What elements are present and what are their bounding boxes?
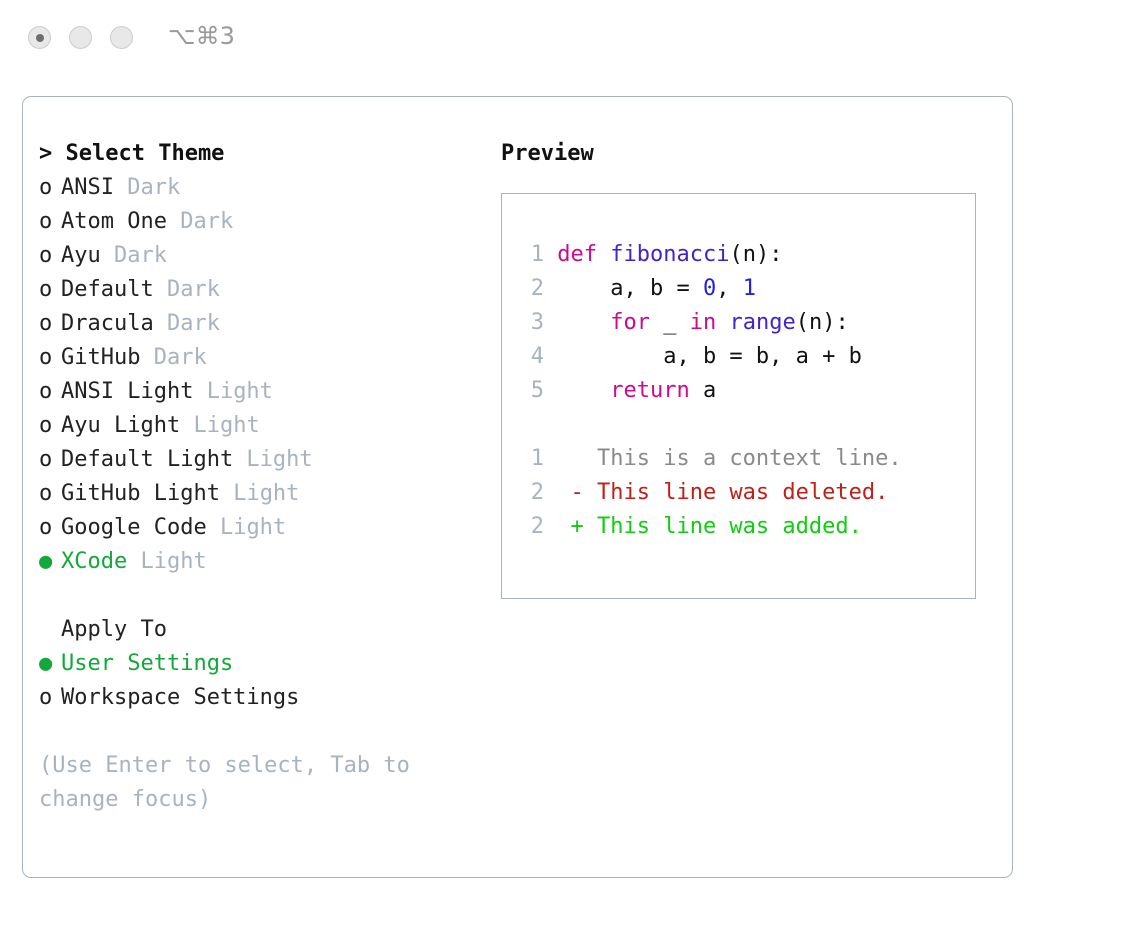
diff-line-text: This line was deleted. [597,480,888,505]
radio-selected-icon: ● [39,545,61,579]
code-token-plain [544,378,610,403]
diff-line-number: 2 [518,510,544,544]
code-token-plain [716,310,729,335]
theme-selector-column: > Select Theme oANSI DarkoAtom One Darko… [39,137,479,817]
theme-option-variant: Dark [167,209,233,234]
radio-unselected-icon: o [39,273,61,307]
window-maximize-button[interactable] [110,26,133,49]
theme-option-variant: Dark [140,345,206,370]
theme-option-label: GitHub [61,345,140,370]
theme-option-label: Google Code [61,515,207,540]
diff-line-body: - This line was deleted. [544,480,888,505]
radio-unselected-icon: o [39,307,61,341]
radio-unselected-icon: o [39,239,61,273]
diff-line-text: This is a context line. [597,446,902,471]
code-line-number: 2 [518,272,544,306]
radio-unselected-icon: o [39,511,61,545]
diff-line-number: 2 [518,476,544,510]
apply-to-option-workspace-settings[interactable]: oWorkspace Settings [39,681,479,715]
apply-to-option-user-settings[interactable]: ●User Settings [39,647,479,681]
list-spacer [39,579,479,613]
diff-line-add: 2 + This line was added. [502,510,975,544]
apply-to-option-label: User Settings [61,651,233,676]
theme-option-ansi[interactable]: oANSI Dark [39,171,479,205]
code-line: 1 def fibonacci(n): [502,238,975,272]
theme-option-label: Ayu Light [61,413,180,438]
code-token-plain: a [690,378,717,403]
theme-option-ansi-light[interactable]: oANSI Light Light [39,375,479,409]
traffic-light-group [28,26,133,49]
keyboard-shortcut-label: ⌥⌘3 [168,22,235,50]
apply-to-heading: Apply To [39,613,479,647]
code-token-fn: fibonacci [610,242,729,267]
main-panel: > Select Theme oANSI DarkoAtom One Darko… [22,96,1013,878]
diff-line-body: This is a context line. [544,446,902,471]
code-diff-separator [502,408,975,442]
theme-option-variant: Light [127,549,206,574]
radio-unselected-icon: o [39,409,61,443]
theme-option-label: Default [61,277,154,302]
code-token-num: 0 [703,276,716,301]
theme-option-list: oANSI DarkoAtom One DarkoAyu DarkoDefaul… [39,171,479,579]
theme-option-dracula[interactable]: oDracula Dark [39,307,479,341]
preview-box: 1 def fibonacci(n):2 a, b = 0, 13 for _ … [501,193,976,599]
apply-to-option-list: ●User SettingsoWorkspace Settings [39,647,479,715]
radio-unselected-icon: o [39,375,61,409]
theme-option-xcode[interactable]: ●XCode Light [39,545,479,579]
code-token-kw: return [610,378,689,403]
radio-unselected-icon: o [39,477,61,511]
theme-option-ayu-light[interactable]: oAyu Light Light [39,409,479,443]
code-token-plain [597,242,610,267]
close-dot-icon [36,34,44,42]
radio-unselected-icon: o [39,443,61,477]
code-token-fn: range [729,310,795,335]
code-line: 4 a, b = b, a + b [502,340,975,374]
keyboard-hint-text: (Use Enter to select, Tab to change focu… [39,749,439,817]
diff-sample-block: 1 This is a context line.2 - This line w… [502,442,975,544]
theme-option-variant: Dark [154,311,220,336]
radio-unselected-icon: o [39,171,61,205]
theme-option-variant: Light [193,379,272,404]
radio-unselected-icon: o [39,681,61,715]
diff-line-text: This line was added. [597,514,862,539]
code-line-number: 3 [518,306,544,340]
code-token-plain: (n): [796,310,849,335]
code-token-plain: , [716,276,743,301]
theme-option-default-light[interactable]: oDefault Light Light [39,443,479,477]
theme-option-label: GitHub Light [61,481,220,506]
code-token-kw: in [690,310,717,335]
page-title: > Select Theme [39,137,479,171]
code-line-number: 4 [518,340,544,374]
theme-option-label: Default Light [61,447,233,472]
diff-marker-del: - [544,480,597,505]
code-line-number: 5 [518,374,544,408]
diff-line-number: 1 [518,442,544,476]
window-titlebar: ⌥⌘3 [0,0,1140,78]
theme-option-variant: Light [220,481,299,506]
code-token-plain [544,310,610,335]
diff-marker-ctx [544,446,597,471]
diff-line-ctx: 1 This is a context line. [502,442,975,476]
code-line-number: 1 [518,238,544,272]
code-token-num: 1 [743,276,756,301]
radio-unselected-icon: o [39,341,61,375]
theme-option-variant: Light [180,413,259,438]
code-sample-block: 1 def fibonacci(n):2 a, b = 0, 13 for _ … [502,238,975,408]
theme-option-label: Dracula [61,311,154,336]
code-line: 3 for _ in range(n): [502,306,975,340]
theme-option-github-light[interactable]: oGitHub Light Light [39,477,479,511]
theme-option-variant: Dark [114,175,180,200]
code-line: 5 return a [502,374,975,408]
diff-line-del: 2 - This line was deleted. [502,476,975,510]
code-token-plain: a, b = [544,276,703,301]
theme-option-variant: Dark [101,243,167,268]
apply-to-option-label: Workspace Settings [61,685,299,710]
code-token-kw: for [610,310,650,335]
theme-option-label: XCode [61,549,127,574]
code-token-kw: def [557,242,597,267]
radio-unselected-icon: o [39,205,61,239]
code-line: 2 a, b = 0, 1 [502,272,975,306]
window-minimize-button[interactable] [69,26,92,49]
theme-option-variant: Light [233,447,312,472]
code-token-plain: (n): [729,242,782,267]
diff-marker-add: + [544,514,597,539]
preview-column: Preview 1 def fibonacci(n):2 a, b = 0, 1… [501,137,991,599]
theme-option-variant: Dark [154,277,220,302]
theme-option-google-code[interactable]: oGoogle Code Light [39,511,479,545]
window-close-button[interactable] [28,26,51,49]
theme-option-label: ANSI Light [61,379,193,404]
theme-option-default[interactable]: oDefault Dark [39,273,479,307]
theme-option-github[interactable]: oGitHub Dark [39,341,479,375]
theme-option-label: Ayu [61,243,101,268]
diff-line-body: + This line was added. [544,514,862,539]
theme-option-label: ANSI [61,175,114,200]
code-token-plain: a, b = b, a + b [544,344,862,369]
theme-option-ayu[interactable]: oAyu Dark [39,239,479,273]
theme-option-variant: Light [207,515,286,540]
theme-option-atom-one[interactable]: oAtom One Dark [39,205,479,239]
app-window: ⌥⌘3 > Select Theme oANSI DarkoAtom One D… [0,0,1140,934]
code-token-plain: _ [650,310,690,335]
radio-selected-icon: ● [39,647,61,681]
theme-option-label: Atom One [61,209,167,234]
preview-title: Preview [501,137,991,171]
code-token-plain [544,242,557,267]
